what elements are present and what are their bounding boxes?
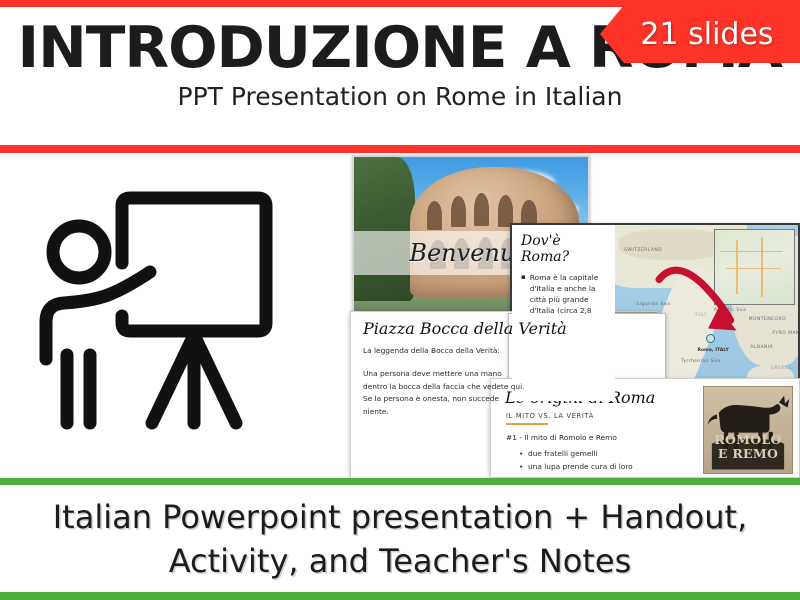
slide-origini-bullet-1: due fratelli gemelli [528, 449, 598, 458]
map-label-greece: GREECE [771, 366, 792, 371]
slide-dove-text-pane: Dov'è Roma? ▪ Roma è la capitale d'Itali… [512, 225, 615, 401]
page-subtitle: PPT Presentation on Rome in Italian [178, 83, 623, 111]
slide-piazza-paragraph-1: La leggenda della Bocca della Verità: [363, 345, 525, 357]
red-arrow-icon [655, 257, 761, 359]
bullet-square-icon: ▪ [521, 272, 526, 316]
slide-dove-bullet: ▪ Roma è la capitale d'Italia e anche la… [521, 272, 609, 316]
middle-red-rule [0, 145, 800, 153]
slide-piazza-paragraph-2: Una persona deve mettere una mano dentro… [363, 368, 525, 418]
footer: Italian Powerpoint presentation + Handou… [0, 485, 800, 592]
footer-line-2: Activity, and Teacher's Notes [169, 539, 632, 583]
slide-piazza-body: La leggenda della Bocca della Verità: Un… [363, 345, 525, 418]
slide-origini-bullet-2: una lupa prende cura di loro [528, 462, 633, 471]
wolf-caption-line-2: E REMO [718, 446, 778, 461]
top-green-rule [0, 478, 800, 485]
slide-dove-title: Dov'è Roma? [521, 233, 609, 265]
middle-band: Benvenuti Dov'è Roma? ▪ Roma è la capita… [0, 153, 800, 478]
slide-collage: Benvenuti Dov'è Roma? ▪ Roma è la capita… [350, 153, 800, 478]
bullet-dot-icon: • [519, 460, 528, 473]
capitoline-wolf-image: ROMOLO E REMO [703, 386, 793, 474]
slide-piazza-title: Piazza Bocca della Verità [363, 319, 567, 338]
list-item: •una lupa prende cura di loro [519, 460, 633, 473]
map-label-switzerland: SWITZERLAND [624, 248, 662, 253]
map-label-tyrrhenian-sea: Tyrrhenian Sea [681, 359, 721, 364]
bullet-dot-icon: • [519, 447, 528, 460]
slide-count-badge[interactable]: 21 slides [600, 5, 800, 63]
slide-origini-lead: #1 - Il mito di Romolo e Remo [506, 433, 617, 442]
slide-count-label: 21 slides [640, 17, 773, 52]
product-cover-page: INTRODUZIONE A ROMA PPT Presentation on … [0, 0, 800, 600]
bottom-green-rule [0, 592, 800, 600]
map-label-fyro-makedon: FYRO MAKEDON [772, 331, 798, 336]
slide-origini-bullet-list: •due fratelli gemelli •una lupa prende c… [519, 447, 633, 473]
list-item: •due fratelli gemelli [519, 447, 633, 460]
teacher-at-whiteboard-icon [22, 175, 322, 460]
slide-origini-underline [506, 423, 548, 425]
slide-dove-bullet-text: Roma è la capitale d'Italia e anche la c… [530, 272, 609, 316]
footer-line-1: Italian Powerpoint presentation + Handou… [53, 495, 748, 539]
wolf-caption-line-1: ROMOLO [714, 432, 781, 447]
